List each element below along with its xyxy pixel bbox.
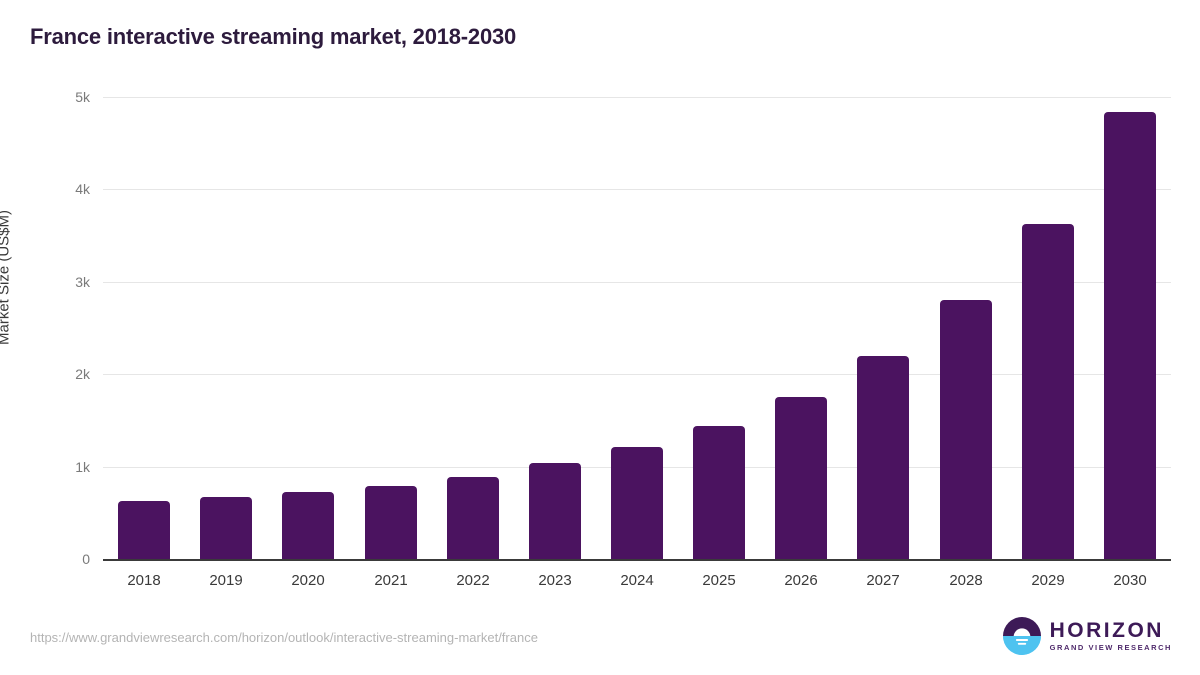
bar[interactable] [775, 397, 827, 559]
x-tick-label: 2019 [209, 572, 242, 589]
y-tick-label: 5k [20, 89, 90, 105]
x-tick-label: 2028 [949, 572, 982, 589]
source-url[interactable]: https://www.grandviewresearch.com/horizo… [30, 630, 538, 645]
y-tick-label: 3k [20, 274, 90, 290]
y-tick-label: 1k [20, 459, 90, 475]
bar[interactable] [365, 486, 417, 559]
x-tick-label: 2022 [456, 572, 489, 589]
x-tick-label: 2018 [127, 572, 160, 589]
bar[interactable] [529, 463, 581, 559]
logo-wordmark: HORIZON [1050, 620, 1172, 641]
y-tick-label: 4k [20, 181, 90, 197]
bar[interactable] [940, 300, 992, 559]
x-tick-label: 2030 [1113, 572, 1146, 589]
logo-tagline: GRAND VIEW RESEARCH [1050, 644, 1172, 652]
x-tick-label: 2024 [620, 572, 653, 589]
horizon-logo-mark [1003, 617, 1041, 655]
bar-series [103, 90, 1171, 559]
x-tick-label: 2027 [866, 572, 899, 589]
x-tick-label: 2029 [1031, 572, 1064, 589]
bar[interactable] [857, 356, 909, 559]
y-tick-label: 2k [20, 366, 90, 382]
x-tick-label: 2023 [538, 572, 571, 589]
horizon-logo: HORIZON GRAND VIEW RESEARCH [1003, 616, 1172, 656]
chart-screenshot: France interactive streaming market, 201… [0, 0, 1200, 675]
bar[interactable] [200, 497, 252, 559]
bar[interactable] [282, 492, 334, 559]
bar[interactable] [1022, 224, 1074, 559]
y-axis-title: Market Size (US$M) [0, 68, 13, 488]
horizon-logo-text: HORIZON GRAND VIEW RESEARCH [1050, 620, 1172, 652]
x-tick-label: 2020 [291, 572, 324, 589]
bar[interactable] [611, 447, 663, 559]
page-title: France interactive streaming market, 201… [30, 24, 516, 50]
bar[interactable] [447, 477, 499, 559]
bar[interactable] [693, 426, 745, 559]
x-tick-label: 2021 [374, 572, 407, 589]
x-tick-label: 2026 [784, 572, 817, 589]
x-tick-label: 2025 [702, 572, 735, 589]
bar[interactable] [1104, 112, 1156, 559]
bar[interactable] [118, 501, 170, 559]
y-tick-label: 0 [20, 551, 90, 567]
x-axis-line [103, 559, 1171, 561]
